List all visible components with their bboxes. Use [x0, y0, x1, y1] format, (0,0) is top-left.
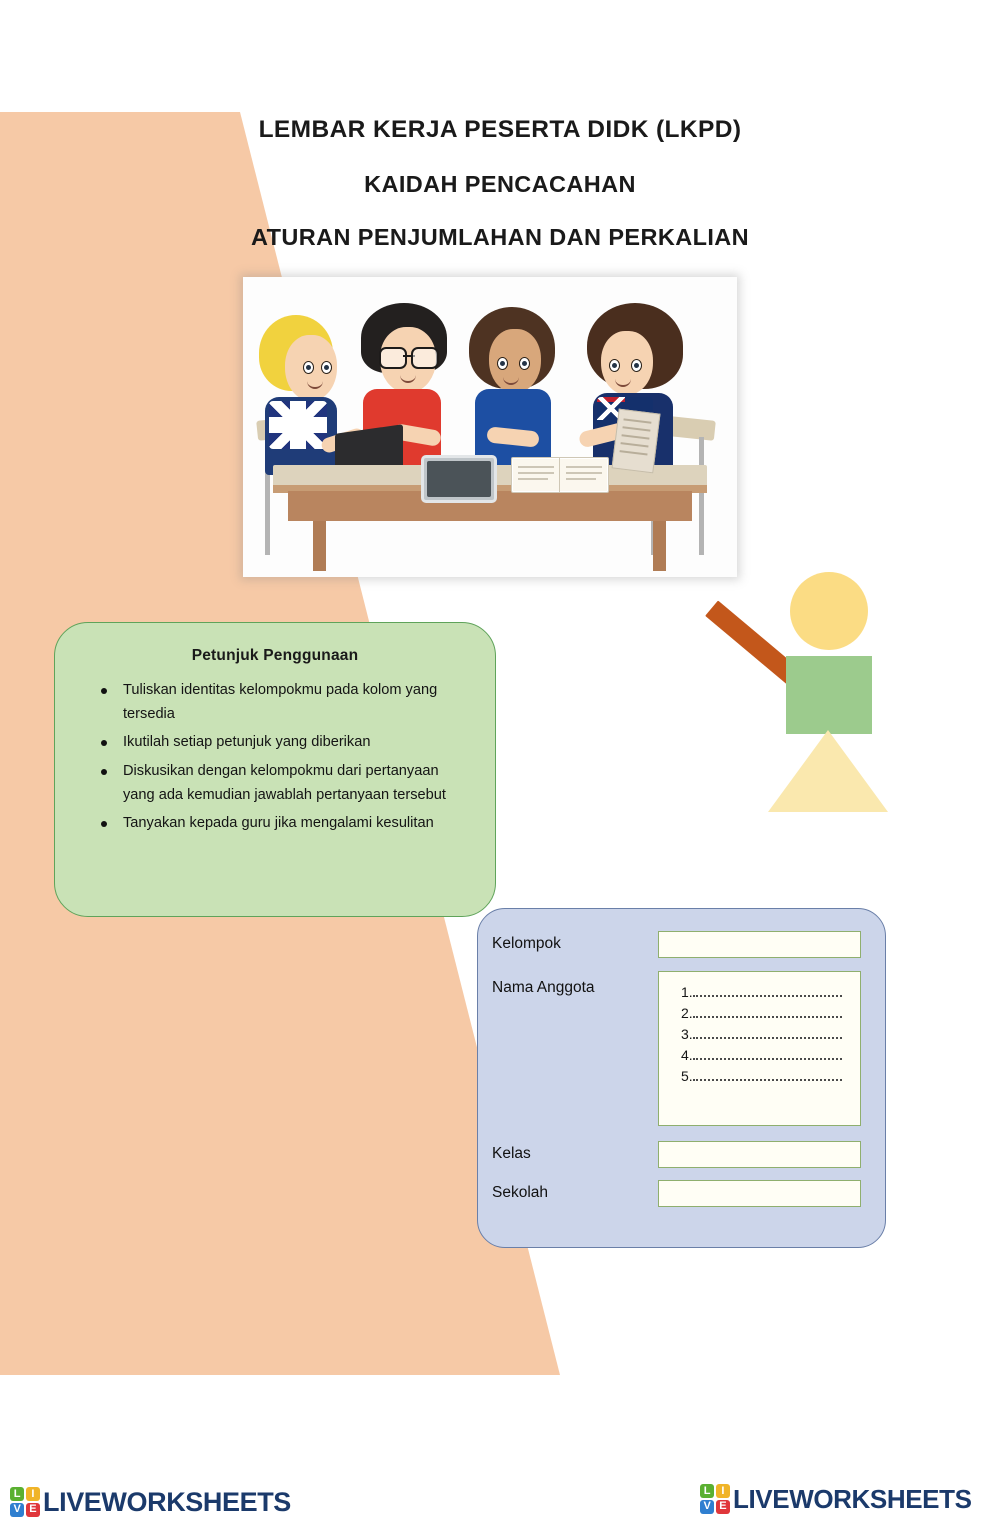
eye — [631, 359, 642, 372]
field-row-kelas: Kelas — [492, 1145, 531, 1163]
page-title-block: LEMBAR KERJA PESERTA DIDK (LKPD) KAIDAH … — [0, 118, 1000, 250]
member-row[interactable]: 3. — [667, 1026, 852, 1042]
bullet-icon — [101, 769, 107, 775]
desk-leg — [653, 521, 666, 571]
field-row-nama-anggota: Nama Anggota — [492, 979, 595, 997]
member-row[interactable]: 1. — [667, 984, 852, 1000]
instruction-text: Tuliskan identitas kelompokmu pada kolom… — [123, 682, 437, 722]
page-title-line-3: ATURAN PENJUMLAHAN DAN PERKALIAN — [0, 226, 1000, 250]
member-dotted-line — [693, 1070, 842, 1081]
tablet-device — [421, 455, 497, 503]
field-row-kelompok: Kelompok — [492, 935, 561, 953]
member-row[interactable]: 5. — [667, 1068, 852, 1084]
bullet-icon — [101, 740, 107, 746]
kelompok-input[interactable] — [658, 931, 861, 958]
instruction-text: Diskusikan dengan kelompokmu dari pertan… — [123, 763, 446, 803]
member-dotted-line — [693, 1007, 842, 1018]
bullet-icon — [101, 688, 107, 694]
desk-leg — [313, 521, 326, 571]
nama-anggota-input-area[interactable]: 1. 2. 3. 4. 5. — [658, 971, 861, 1126]
member-number: 4. — [667, 1047, 693, 1063]
member-dotted-line — [693, 1028, 842, 1039]
liveworksheets-logo-right[interactable]: L I V E LIVEWORKSHEETS — [700, 1484, 972, 1514]
liveworksheets-mark-icon: L I V E — [700, 1484, 730, 1514]
list-item: Tanyakan kepada guru jika mengalami kesu… — [79, 812, 471, 836]
mark-tile-e: E — [716, 1500, 730, 1514]
eye — [609, 359, 620, 372]
mark-tile-i: I — [26, 1487, 40, 1501]
torso — [475, 389, 551, 465]
member-number: 2. — [667, 1005, 693, 1021]
mark-tile-l: L — [10, 1487, 24, 1501]
mark-tile-e: E — [26, 1503, 40, 1517]
page-title-line-1: LEMBAR KERJA PESERTA DIDK (LKPD) — [0, 118, 1000, 143]
identity-form-card: Kelompok Nama Anggota 1. 2. 3. 4. 5. Kel… — [477, 908, 886, 1248]
list-item: Ikutilah setiap petunjuk yang diberikan — [79, 731, 471, 755]
eye — [303, 361, 314, 374]
instructions-list: Tuliskan identitas kelompokmu pada kolom… — [79, 679, 471, 836]
member-number: 3. — [667, 1026, 693, 1042]
mark-tile-i: I — [716, 1484, 730, 1498]
mark-tile-l: L — [700, 1484, 714, 1498]
liveworksheets-wordmark: LIVEWORKSHEETS — [43, 1489, 291, 1516]
kelas-input[interactable] — [658, 1141, 861, 1168]
geometric-figure — [668, 552, 928, 822]
list-item: Diskusikan dengan kelompokmu dari pertan… — [79, 760, 471, 807]
liveworksheets-logo-left[interactable]: L I V E LIVEWORKSHEETS — [10, 1487, 291, 1517]
liveworksheets-mark-icon: L I V E — [10, 1487, 40, 1517]
instructions-title: Petunjuk Penggunaan — [79, 647, 471, 665]
illustration-scene: ★ — [243, 277, 737, 577]
eye — [519, 357, 530, 370]
page-title-line-2: KAIDAH PENCACAHAN — [0, 173, 1000, 197]
nama-anggota-label: Nama Anggota — [492, 979, 595, 997]
member-dotted-line — [693, 986, 842, 997]
open-book — [511, 457, 609, 493]
uk-flag-shirt — [269, 401, 327, 449]
sekolah-label: Sekolah — [492, 1184, 548, 1202]
bullet-icon — [101, 821, 107, 827]
students-illustration: ★ — [243, 277, 737, 577]
sekolah-input[interactable] — [658, 1180, 861, 1207]
field-row-sekolah: Sekolah — [492, 1184, 548, 1202]
mark-tile-v: V — [700, 1500, 714, 1514]
instruction-text: Ikutilah setiap petunjuk yang diberikan — [123, 734, 370, 750]
instruction-text: Tanyakan kepada guru jika mengalami kesu… — [123, 815, 434, 831]
liveworksheets-wordmark: LIVEWORKSHEETS — [733, 1486, 972, 1512]
kelas-label: Kelas — [492, 1145, 531, 1163]
eye — [321, 361, 332, 374]
chair-leg — [699, 437, 704, 555]
paper-sheet — [612, 409, 661, 474]
member-dotted-line — [693, 1049, 842, 1060]
circle-shape-head — [790, 572, 868, 650]
member-row[interactable]: 2. — [667, 1005, 852, 1021]
square-shape-body — [786, 656, 872, 734]
worksheet-page: LEMBAR KERJA PESERTA DIDK (LKPD) KAIDAH … — [0, 0, 1000, 1530]
member-row[interactable]: 4. — [667, 1047, 852, 1063]
eye — [497, 357, 508, 370]
triangle-shape-skirt — [768, 730, 888, 812]
kelompok-label: Kelompok — [492, 935, 561, 953]
member-number: 5. — [667, 1068, 693, 1084]
list-item: Tuliskan identitas kelompokmu pada kolom… — [79, 679, 471, 726]
glasses-icon — [379, 347, 439, 365]
instructions-card: Petunjuk Penggunaan Tuliskan identitas k… — [54, 622, 496, 917]
member-number: 1. — [667, 984, 693, 1000]
mark-tile-v: V — [10, 1503, 24, 1517]
